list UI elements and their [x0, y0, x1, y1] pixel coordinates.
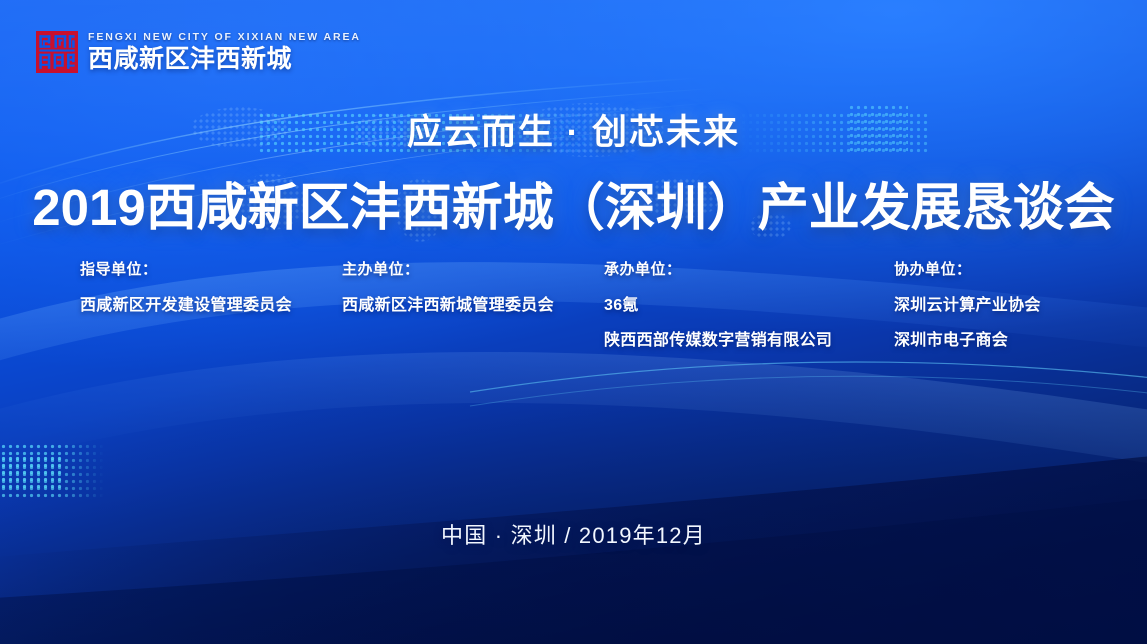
organizer-list: 指导单位： 西咸新区开发建设管理委员会 主办单位： 西咸新区沣西新城管理委员会 …	[0, 262, 1147, 349]
event-location-date: 中国 · 深圳 / 2019年12月	[0, 518, 1147, 550]
organizer-column-guidance: 指导单位： 西咸新区开发建设管理委员会	[80, 262, 342, 349]
organizer-column-coorganizer: 协办单位： 深圳云计算产业协会 深圳市电子商会	[894, 262, 1041, 349]
organizer-unit: 陕西西部传媒数字营销有限公司	[604, 333, 894, 349]
seal-stamp-icon	[36, 31, 78, 73]
organizer-column-undertaker: 承办单位： 36氪 陕西西部传媒数字营销有限公司	[604, 262, 894, 349]
organizer-unit: 西咸新区开发建设管理委员会	[80, 298, 342, 314]
organizer-role-label: 协办单位：	[894, 262, 1041, 277]
organizer-role-label: 指导单位：	[80, 262, 342, 277]
organizer-unit: 西咸新区沣西新城管理委员会	[342, 298, 604, 314]
event-title: 2019西咸新区沣西新城（深圳）产业发展恳谈会	[0, 166, 1147, 240]
brand-logo-text: FENGXI NEW CITY OF XIXIAN NEW AREA 西咸新区沣…	[88, 32, 361, 73]
poster-content: FENGXI NEW CITY OF XIXIAN NEW AREA 西咸新区沣…	[0, 0, 1147, 644]
event-subtitle: 应云而生 · 创芯未来	[0, 104, 1147, 155]
brand-logo: FENGXI NEW CITY OF XIXIAN NEW AREA 西咸新区沣…	[36, 31, 361, 73]
event-poster: FENGXI NEW CITY OF XIXIAN NEW AREA 西咸新区沣…	[0, 0, 1147, 644]
organizer-unit: 深圳市电子商会	[894, 333, 1041, 349]
organizer-unit: 深圳云计算产业协会	[894, 298, 1041, 314]
organizer-column-host: 主办单位： 西咸新区沣西新城管理委员会	[342, 262, 604, 349]
brand-name-english: FENGXI NEW CITY OF XIXIAN NEW AREA	[88, 32, 361, 43]
organizer-unit: 36氪	[604, 298, 894, 314]
brand-name-chinese: 西咸新区沣西新城	[88, 47, 361, 72]
organizer-role-label: 承办单位：	[604, 262, 894, 277]
organizer-role-label: 主办单位：	[342, 262, 604, 277]
